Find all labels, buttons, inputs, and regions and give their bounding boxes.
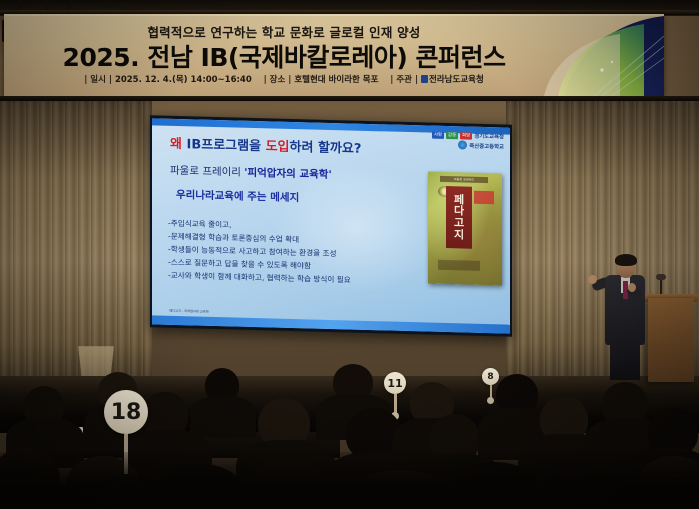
book-side-tag: [474, 191, 494, 205]
slide-subtitle: 파울로 프레이리 '피억압자의 교육학': [170, 163, 332, 182]
slide-chip-3: 희망: [460, 132, 472, 139]
slide-title: 왜 IB프로그램을 도입하려 할까요?: [170, 133, 361, 157]
presentation-slide: 사랑 감동 희망 경기도교육청 죽산중고등학교 왜 IB프로그램을 도입하려 할…: [152, 118, 510, 333]
book-title-char-4: 지: [454, 229, 464, 241]
banner-host-value: 전라남도교육청: [429, 75, 484, 85]
slide-bullet-list: -주입식교육 줄이고, -문제해결형 학습과 토론중심의 수업 확대 -학생들이…: [168, 217, 418, 289]
photo-scene: 협력적으로 연구하는 학교 문화로 글로컬 인재 양성 2025. 전남 IB(…: [0, 0, 699, 509]
slide-title-part-2: IB프로그램을: [182, 137, 266, 154]
slide-org-1: 경기도교육청: [474, 132, 504, 141]
speaker-hair: [615, 254, 637, 266]
school-emblem-icon: [458, 140, 467, 149]
slide-subtitle-plain: 파울로 프레이리: [170, 165, 244, 179]
book-title-char-3: 고: [454, 217, 464, 229]
book-title-box: 페 다 고 지: [446, 186, 472, 249]
education-office-logo-icon: [421, 75, 428, 83]
event-banner: 협력적으로 연구하는 학교 문화로 글로컬 인재 양성 2025. 전남 IB(…: [4, 14, 664, 96]
foreground-shadow: [0, 452, 699, 509]
placard-number: 18: [104, 390, 148, 434]
slide-chip-1: 사랑: [432, 131, 444, 138]
slide-title-part-4: 하려 할까요?: [290, 140, 362, 157]
banner-title: 2025. 전남 IB(국제바칼로레아) 콘퍼런스: [4, 38, 564, 74]
stage-curtain-left: [0, 96, 152, 396]
speaker-left-hand: [588, 275, 597, 284]
book-cover-image: 파울로 프레이리 페 다 고 지: [428, 172, 502, 286]
book-top-band: 파울로 프레이리: [440, 176, 488, 183]
audience-shoulders: [190, 396, 256, 438]
speaker-right-hand: [628, 283, 636, 292]
slide-org-2: 죽산중고등학교: [469, 141, 504, 150]
slide-subtitle-quoted: '피억압자의 교육학': [244, 167, 331, 181]
banner-place-value: 호텔현대 바이라한 목포: [294, 75, 378, 85]
banner-meta: | 일시 | 2025. 12. 4.(목) 14:00~16:40 | 장소 …: [4, 73, 564, 85]
banner-place-label: | 장소 |: [264, 75, 292, 85]
slide-section-heading: 우리나라교육에 주는 메세지: [176, 187, 299, 205]
slide-chip-2: 감동: [446, 132, 458, 139]
book-caption: 페다고지 - 피억압자의 교육학: [152, 307, 226, 314]
slide-title-part-1: 왜: [170, 137, 182, 152]
banner-rod-bottom: [0, 96, 699, 101]
book-author-block: [438, 260, 480, 271]
banner-date-label: | 일시 |: [84, 75, 112, 85]
banner-date-value: 2025. 12. 4.(목) 14:00~16:40: [115, 75, 252, 85]
slide-logos: 사랑 감동 희망 경기도교육청 죽산중고등학교: [432, 131, 504, 152]
slide-title-part-3: 도입: [266, 139, 290, 155]
banner-host-label: | 주관 |: [390, 75, 418, 85]
